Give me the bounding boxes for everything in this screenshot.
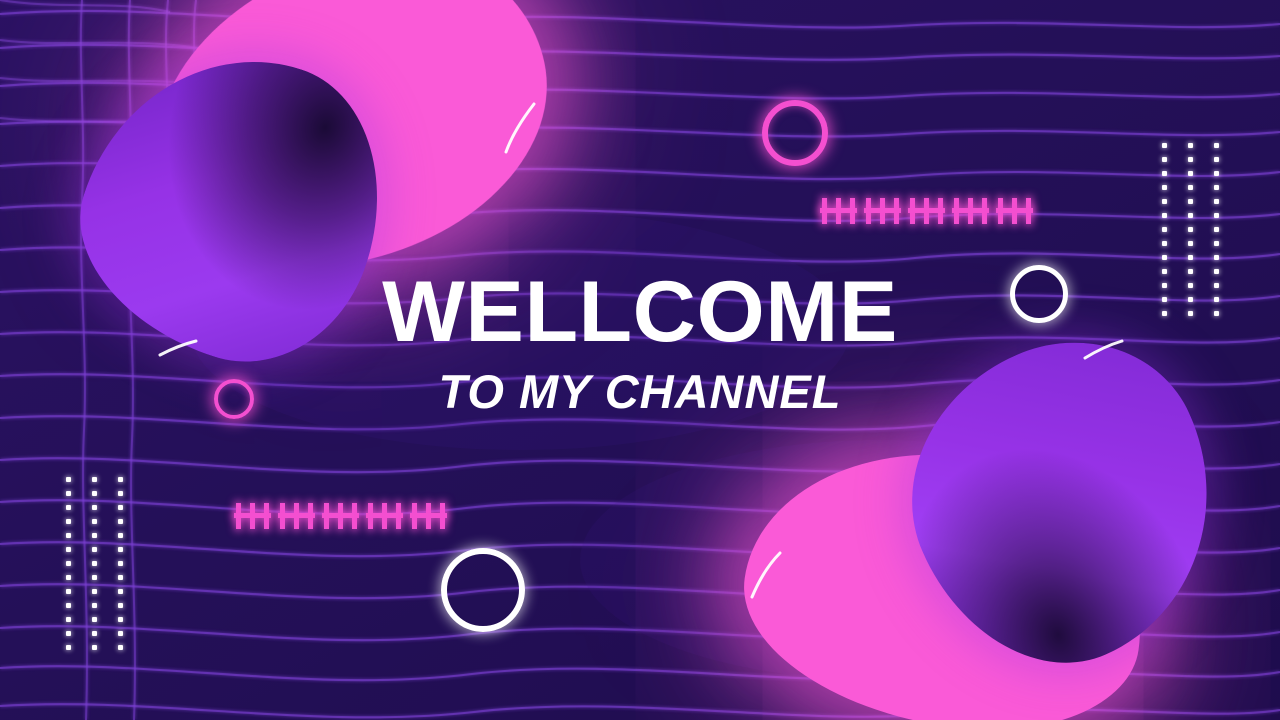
- tally-marks-bottom-left: [236, 503, 446, 529]
- tally-group: [412, 503, 446, 529]
- headline-block: WELLCOME TO MY CHANNEL: [0, 272, 1280, 415]
- tally-group: [280, 503, 314, 529]
- tally-group: [368, 503, 402, 529]
- dot-grid-left: [66, 477, 126, 650]
- page-title: WELLCOME: [0, 272, 1280, 354]
- tally-group: [236, 503, 270, 529]
- page-subtitle: TO MY CHANNEL: [0, 368, 1280, 415]
- tally-group: [866, 198, 900, 224]
- ring-white-bottom: [441, 548, 525, 632]
- tally-group: [910, 198, 944, 224]
- tally-group: [822, 198, 856, 224]
- ring-pink-large-top: [762, 100, 828, 166]
- tally-group: [324, 503, 358, 529]
- tally-group: [954, 198, 988, 224]
- tally-group: [998, 198, 1032, 224]
- welcome-banner-canvas: WELLCOME TO MY CHANNEL: [0, 0, 1280, 720]
- tally-marks-top-right: [822, 198, 1032, 224]
